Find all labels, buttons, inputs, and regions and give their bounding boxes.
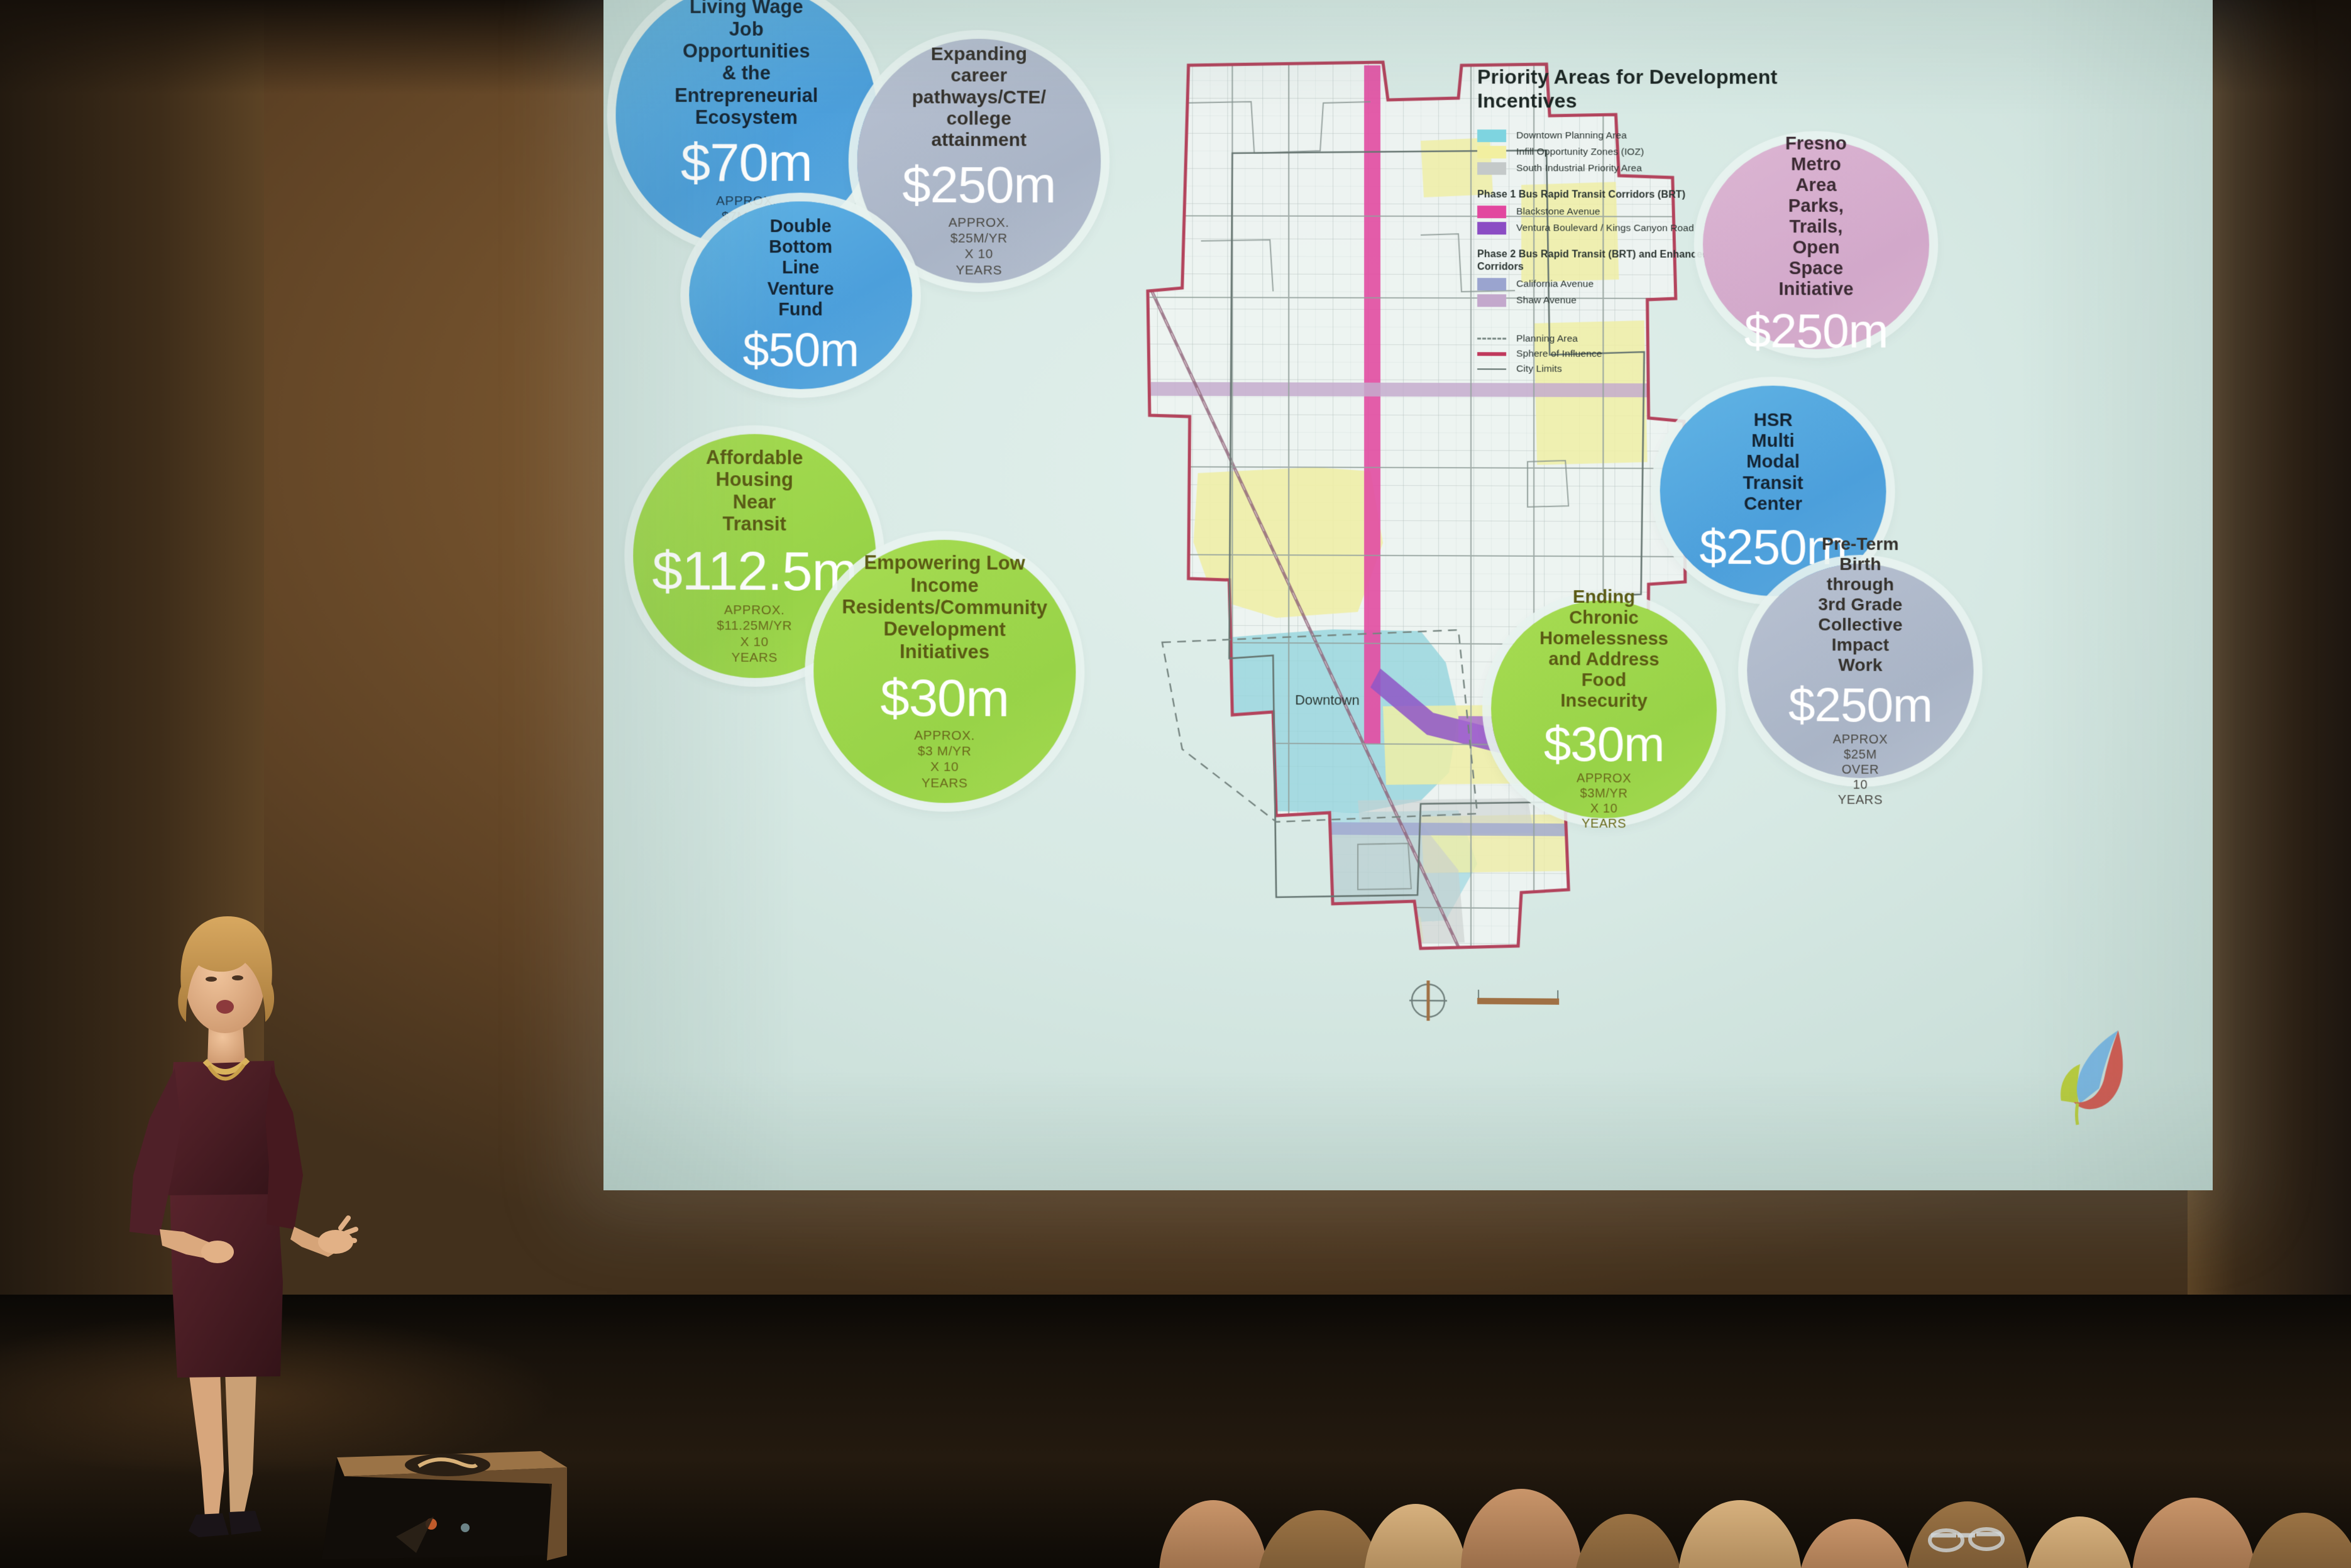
bubble-title: Ending Chronic Homelessness and Address … bbox=[1539, 587, 1668, 713]
legend-item-downtown-planning-area: Downtown Planning Area bbox=[1477, 129, 1805, 143]
audience-head bbox=[1461, 1489, 1582, 1568]
bubble-title: Affordable Housing Near Transit bbox=[706, 446, 803, 535]
bubble-title: Expanding Living Wage Job Opportunities … bbox=[674, 0, 818, 128]
presenter-dress-skirt bbox=[170, 1180, 283, 1378]
map-river bbox=[1146, 65, 1159, 216]
audience-head bbox=[2132, 1498, 2255, 1568]
legend-swatch-california bbox=[1477, 278, 1506, 290]
audience-head bbox=[1257, 1510, 1383, 1568]
legend-swatch-ioz bbox=[1477, 146, 1506, 158]
bubble-double-bottom-line: Double Bottom Line Venture Fund $50m bbox=[689, 201, 912, 389]
north-arrow-icon bbox=[1409, 980, 1447, 1021]
auditorium-stage-scene: Downtown Priorit bbox=[0, 0, 2351, 1568]
projection-screen: Downtown Priorit bbox=[603, 0, 2213, 1190]
bubble-amount: $250m bbox=[902, 160, 1055, 211]
presenter-eye-left bbox=[206, 977, 217, 982]
legend-title: Priority Areas for Development Incentive… bbox=[1477, 65, 1805, 113]
audience-head bbox=[1574, 1514, 1682, 1568]
bubble-amount: $30m bbox=[1544, 719, 1665, 769]
bubble-title: Fresno Metro Area Parks, Trails, Open Sp… bbox=[1778, 133, 1853, 300]
bubble-note: APPROX. $11.25M/YR X 10 YEARS bbox=[717, 602, 792, 666]
audience-eyeglasses bbox=[1931, 1534, 2001, 1535]
legend-swatch-blackstone bbox=[1477, 206, 1506, 218]
presenter-sleeve-right bbox=[265, 1066, 303, 1229]
bubble-note: APPROX. $3 M/YR X 10 YEARS bbox=[914, 728, 975, 791]
bubble-amount: $30m bbox=[880, 671, 1009, 725]
monitor-logo-badge bbox=[461, 1523, 470, 1532]
bubble-note: APPROX $3M/YR X 10 YEARS bbox=[1577, 771, 1631, 832]
bubble-pre-term-birth: Pre-Term Birth through 3rd Grade Collect… bbox=[1747, 563, 1974, 779]
bubble-note: APPROX. $25M/YR X 10 YEARS bbox=[949, 215, 1010, 278]
presenter-leg-right bbox=[225, 1370, 256, 1515]
bubble-amount: $50m bbox=[742, 326, 858, 374]
stage-monitor-speaker bbox=[308, 1430, 578, 1568]
audience-head bbox=[1159, 1500, 1267, 1568]
bubble-title: HSR Multi Modal Transit Center bbox=[1743, 410, 1803, 515]
presenter-shoe-right bbox=[229, 1511, 262, 1535]
legend-swatch-ventura bbox=[1477, 222, 1506, 234]
bubble-amount: $112.5m bbox=[652, 543, 857, 599]
legend-line-sphere bbox=[1477, 352, 1506, 356]
bubble-title: Double Bottom Line Venture Fund bbox=[768, 217, 834, 321]
audience-head bbox=[1798, 1519, 1911, 1568]
map-bus-california-avenue bbox=[1176, 821, 1591, 836]
presentation-slide: Downtown Priorit bbox=[608, 0, 2218, 1197]
legend-swatch-downtown bbox=[1477, 129, 1506, 142]
map-downtown-label: Downtown bbox=[1295, 692, 1360, 708]
legend-item-city-limits: City Limits bbox=[1477, 363, 1805, 375]
audience-head bbox=[2025, 1516, 2134, 1568]
audience-head bbox=[1364, 1504, 1467, 1568]
bubble-amount: $70m bbox=[681, 136, 812, 190]
bubble-title: Empowering Low Income Residents/Communit… bbox=[842, 552, 1047, 664]
presenter-hand-left bbox=[201, 1241, 234, 1263]
legend-line-city-limits bbox=[1477, 368, 1506, 370]
audience-silhouettes bbox=[1131, 1430, 2351, 1568]
scale-bar-icon bbox=[1477, 990, 1559, 1005]
legend-swatch-shaw bbox=[1477, 294, 1506, 307]
presenter-shoe-left bbox=[189, 1513, 229, 1537]
legend-line-planning-area bbox=[1477, 337, 1506, 339]
bubble-amount: $250m bbox=[1744, 307, 1888, 356]
presenter-mouth bbox=[216, 1000, 234, 1014]
presenter-dress-bodice bbox=[167, 1061, 283, 1195]
audience-head bbox=[1678, 1500, 1802, 1568]
map-brt-blackstone-avenue bbox=[1364, 65, 1380, 744]
presenter-eye-right bbox=[232, 975, 243, 980]
monitor-handle-recess bbox=[405, 1454, 490, 1476]
bubble-title: Expanding career pathways/CTE/ college a… bbox=[912, 44, 1046, 151]
bubble-fresno-metro-parks: Fresno Metro Area Parks, Trails, Open Sp… bbox=[1703, 140, 1929, 349]
legend-swatch-industrial bbox=[1477, 162, 1506, 175]
bubble-empowering-low-income: Empowering Low Income Residents/Communit… bbox=[813, 539, 1076, 804]
bubble-ending-homelessness: Ending Chronic Homelessness and Address … bbox=[1491, 600, 1717, 819]
bubble-title: Pre-Term Birth through 3rd Grade Collect… bbox=[1818, 534, 1902, 676]
presenter-leg-left bbox=[189, 1369, 224, 1517]
bubble-amount: $250m bbox=[1788, 681, 1932, 730]
leaf-flame-logo bbox=[2052, 1022, 2147, 1127]
audience-head bbox=[2247, 1513, 2351, 1568]
bubble-note: APPROX $25M OVER 10 YEARS bbox=[1833, 732, 1888, 808]
